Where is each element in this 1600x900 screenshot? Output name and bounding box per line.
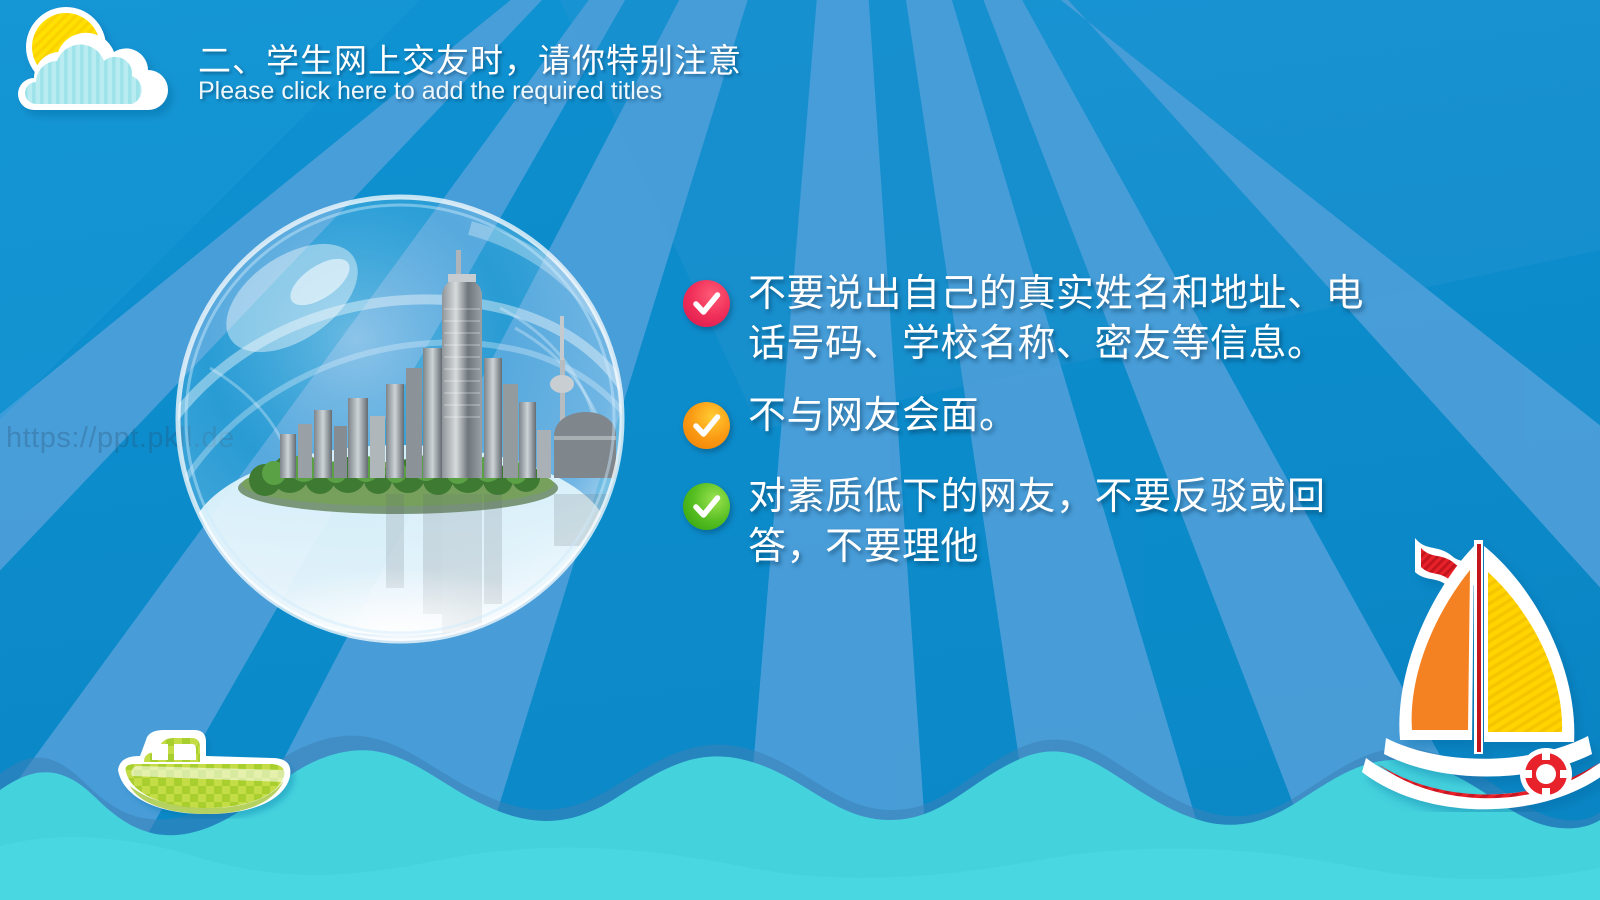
bullet-text: 不要说出自己的真实姓名和地址、电话号码、学校名称、密友等信息。 <box>748 268 1383 368</box>
page-title: 二、学生网上交友时，请你特别注意 <box>198 44 742 77</box>
sailboat-icon <box>1360 522 1600 812</box>
sun-cloud-icon <box>8 2 183 127</box>
list-item: 不与网友会面。 <box>683 390 1383 449</box>
slide-canvas: 二、学生网上交友时，请你特别注意 Please click here to ad… <box>0 0 1600 900</box>
green-checkered-boat-icon <box>110 714 310 819</box>
check-circle-icon <box>683 402 730 449</box>
check-circle-icon <box>683 280 730 327</box>
page-subtitle: Please click here to add the required ti… <box>198 79 742 104</box>
bullet-text: 对素质低下的网友，不要反驳或回答，不要理他 <box>748 471 1383 571</box>
list-item: 不要说出自己的真实姓名和地址、电话号码、学校名称、密友等信息。 <box>683 268 1383 368</box>
glass-sphere-city-image <box>170 188 630 650</box>
slide-title-block: 二、学生网上交友时，请你特别注意 Please click here to ad… <box>198 44 742 104</box>
bullet-list: 不要说出自己的真实姓名和地址、电话号码、学校名称、密友等信息。 不与网友会面。 … <box>683 268 1383 594</box>
check-circle-icon <box>683 483 730 530</box>
list-item: 对素质低下的网友，不要反驳或回答，不要理他 <box>683 471 1383 571</box>
bullet-text: 不与网友会面。 <box>748 390 1018 440</box>
